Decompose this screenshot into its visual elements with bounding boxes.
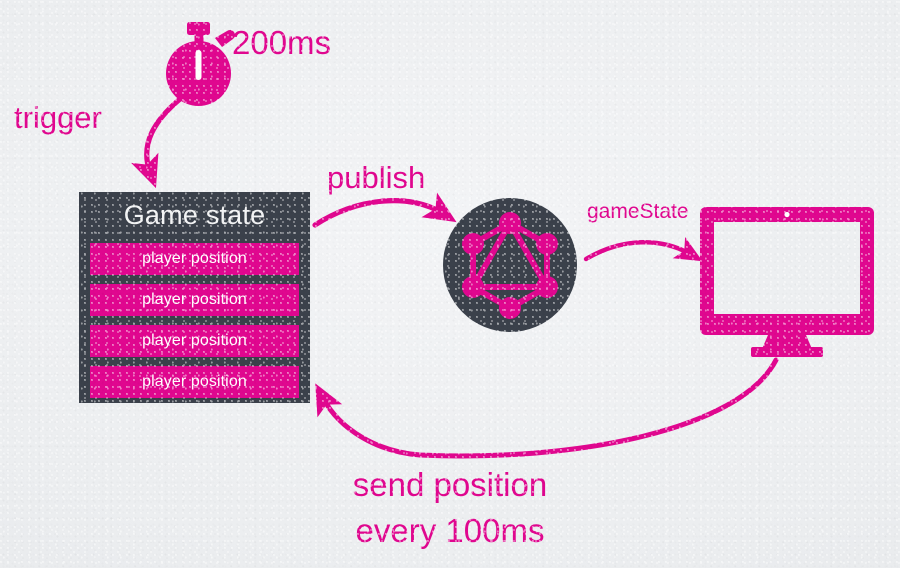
game-state-panel: Game state player position player positi…	[79, 192, 310, 403]
game-state-title: Game state	[79, 193, 310, 237]
timer-duration-label: 200ms	[232, 24, 331, 62]
send-position-line-1: send position	[0, 462, 900, 508]
diagram-canvas: Game state player position player positi…	[0, 0, 900, 568]
publish-label: publish	[327, 160, 425, 196]
player-position-row: player position	[90, 284, 299, 316]
send-position-label: send position every 100ms	[0, 462, 900, 554]
gamestate-label: gameState	[587, 200, 689, 224]
player-position-row: player position	[90, 243, 299, 275]
trigger-label: trigger	[14, 100, 102, 136]
player-position-row: player position	[90, 325, 299, 357]
send-position-line-2: every 100ms	[0, 508, 900, 554]
player-position-row: player position	[90, 366, 299, 398]
